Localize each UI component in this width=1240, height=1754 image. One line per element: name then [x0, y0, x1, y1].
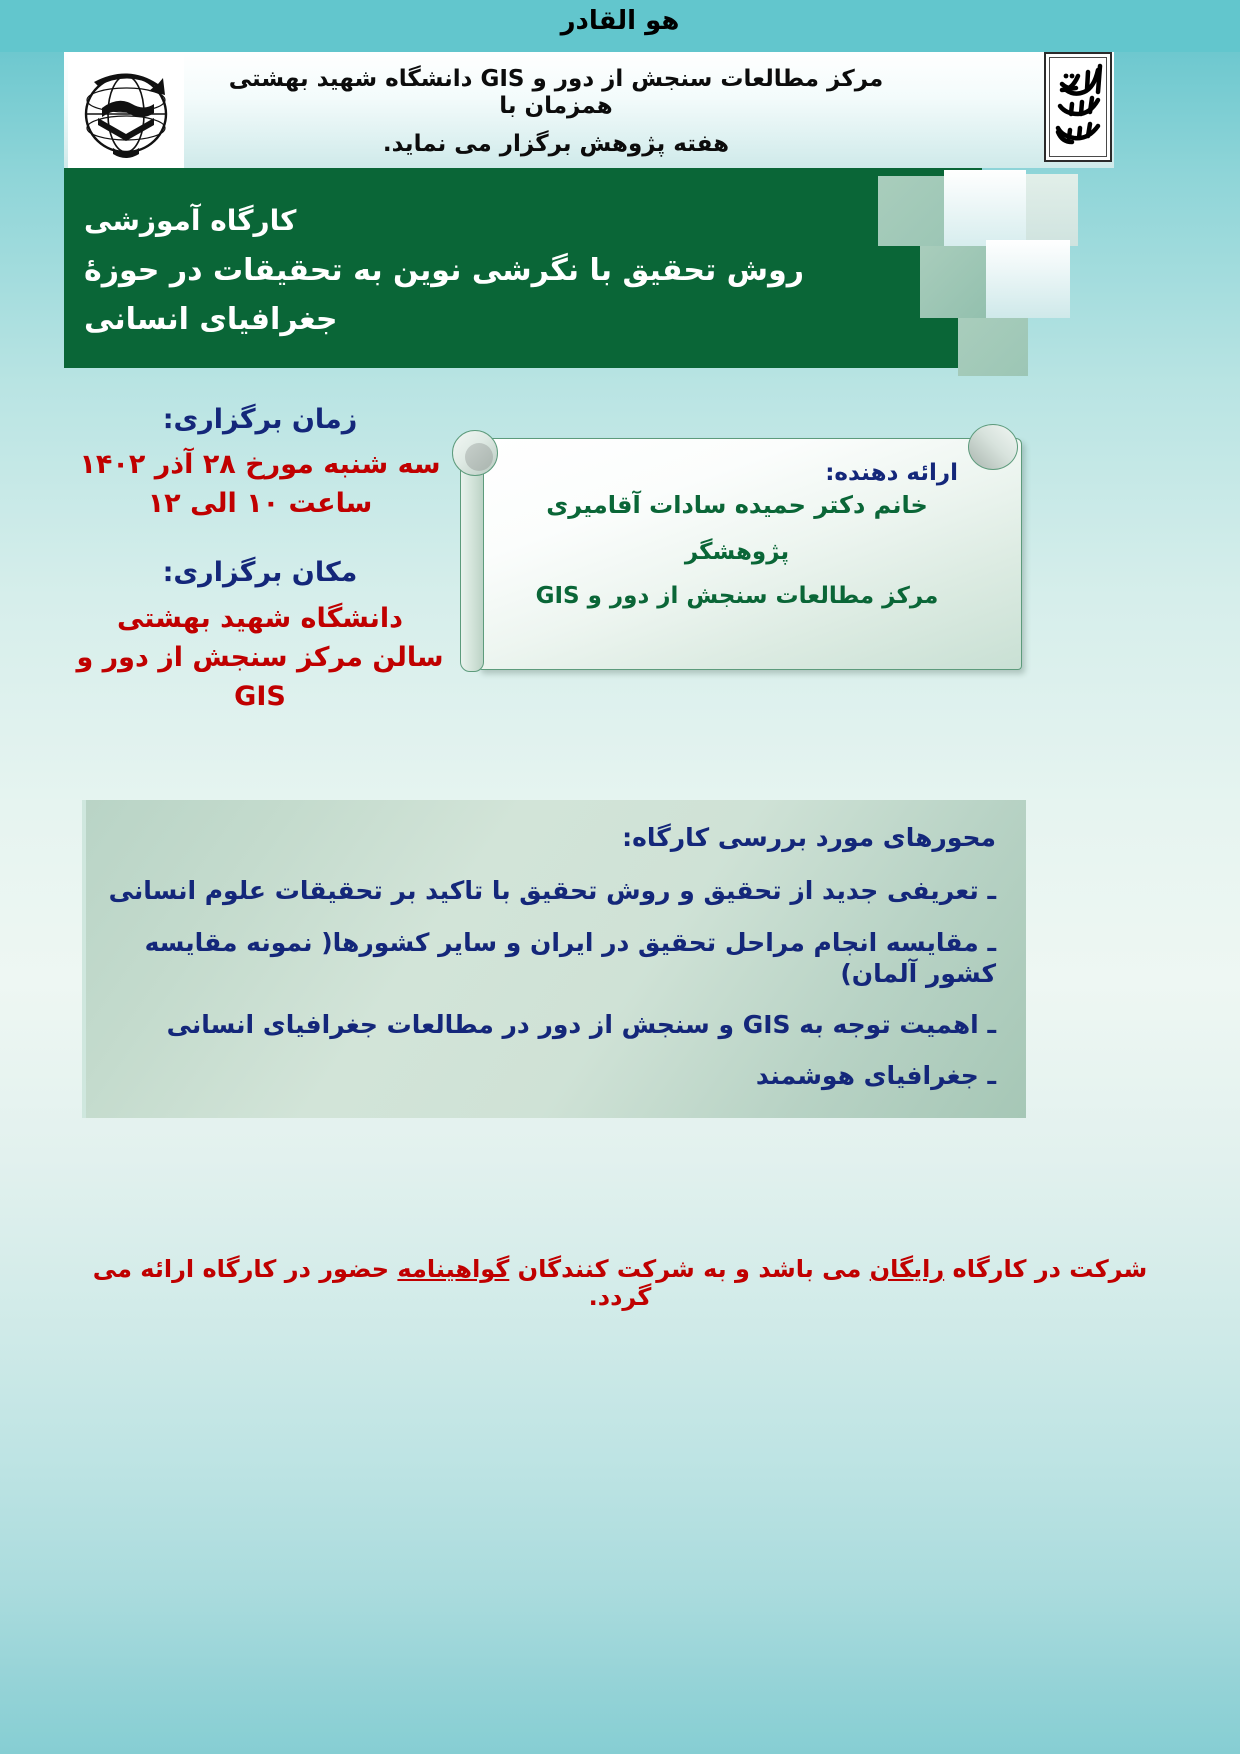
decor-square-2 [944, 170, 1026, 246]
presenter-scroll: ارائه دهنده: خانم دکتر حمیده سادات آقامی… [452, 430, 1020, 678]
presenter-label: ارائه دهنده: [492, 456, 982, 491]
event-date-value: سه شنبه مورخ ۲۸ آذر ۱۴۰۲ [60, 445, 460, 484]
workshop-title-line-2: جغرافیای انسانی [84, 302, 548, 337]
topic-item: ـ اهمیت توجه به GIS و سنجش از دور در مطا… [106, 1009, 996, 1040]
event-details-column: زمان برگزاری: سه شنبه مورخ ۲۸ آذر ۱۴۰۲ س… [60, 400, 460, 716]
topic-item: ـ تعریفی جدید از تحقیق و روش تحقیق با تا… [106, 875, 996, 906]
scroll-curl-inner [465, 443, 493, 471]
presenter-organization: مرکز مطالعات سنجش از دور و GIS [492, 579, 982, 614]
footer-note: شرکت در کارگاه رایگان می باشد و به شرکت … [70, 1255, 1170, 1311]
event-place-line-2: سالن مرکز سنجش از دور و GIS [60, 638, 460, 716]
footer-free-word: رایگان [870, 1255, 945, 1283]
presenter-role: پژوهشگر [492, 535, 982, 570]
header-line-1: مرکز مطالعات سنجش از دور و GIS دانشگاه ش… [200, 66, 912, 119]
shahid-beheshti-university-logo [1044, 52, 1112, 162]
decor-square-6 [958, 318, 1028, 376]
event-hours-value: ساعت ۱۰ الی ۱۲ [60, 484, 460, 523]
decor-square-3 [1026, 174, 1078, 246]
spacer [60, 523, 460, 553]
decor-square-4 [920, 246, 986, 318]
workshop-kind-label: کارگاه آموزشی [84, 204, 486, 237]
workshop-title-line-1: روش تحقیق با نگرشی نوین به تحقیقات در حو… [84, 253, 804, 288]
footer-certificate-word: گواهینامه [397, 1255, 509, 1283]
iranian-rs-gis-society-logo [68, 52, 184, 168]
topics-content: محورهای مورد بررسی کارگاه: ـ تعریفی جدید… [82, 800, 1026, 1118]
banner-text-block: کارگاه آموزشی روش تحقیق با نگرشی نوین به… [64, 172, 924, 368]
event-time-label: زمان برگزاری: [60, 400, 460, 439]
footer-part-1: شرکت در کارگاه [944, 1255, 1147, 1283]
topic-item: ـ جغرافیای هوشمند [106, 1060, 996, 1091]
presenter-info: ارائه دهنده: خانم دکتر حمیده سادات آقامی… [492, 456, 992, 656]
decor-square-5 [986, 240, 1070, 318]
bismillah-text: هو القادر [0, 6, 1240, 36]
scroll-spine [460, 452, 484, 672]
presenter-name: خانم دکتر حمیده سادات آقامیری [492, 487, 982, 523]
topic-item: ـ مقایسه انجام مراحل تحقیق در ایران و سا… [106, 927, 996, 990]
topics-title: محورهای مورد بررسی کارگاه: [106, 822, 996, 853]
footer-part-2: می باشد و به شرکت کنندگان [509, 1255, 869, 1283]
event-place-label: مکان برگزاری: [60, 553, 460, 592]
header-line-2: هفته پژوهش برگزار می نماید. [200, 131, 912, 157]
header-announcement: مرکز مطالعات سنجش از دور و GIS دانشگاه ش… [200, 58, 912, 166]
event-place-line-1: دانشگاه شهید بهشتی [60, 599, 460, 638]
